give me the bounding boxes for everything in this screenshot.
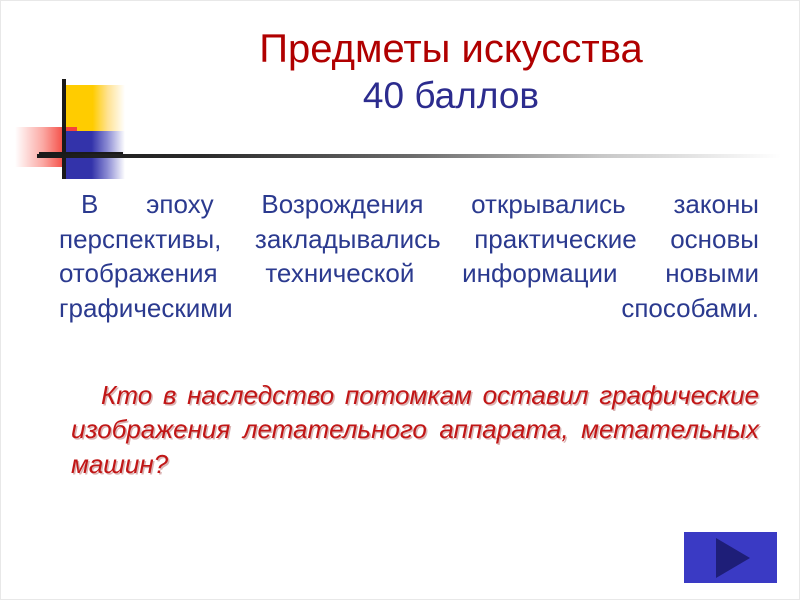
question-paragraph: Кто в наследство потомкам оставил графич… — [59, 378, 759, 516]
title-divider — [37, 154, 781, 158]
next-slide-button[interactable] — [684, 532, 777, 583]
decor-square-yellow-icon — [63, 85, 125, 131]
title-block: Предметы искусства 40 баллов — [121, 25, 781, 119]
play-triangle-right-icon — [716, 538, 750, 578]
decorative-motif — [15, 79, 123, 179]
decor-vertical-line — [62, 79, 66, 179]
body-text-block: В эпоху Возрождения открывались законы п… — [59, 187, 759, 516]
slide-subtitle: 40 баллов — [121, 73, 781, 119]
statement-paragraph: В эпоху Возрождения открывались законы п… — [59, 187, 759, 360]
slide-canvas: Предметы искусства 40 баллов В эпоху Воз… — [0, 0, 800, 600]
slide-title: Предметы искусства — [121, 25, 781, 73]
